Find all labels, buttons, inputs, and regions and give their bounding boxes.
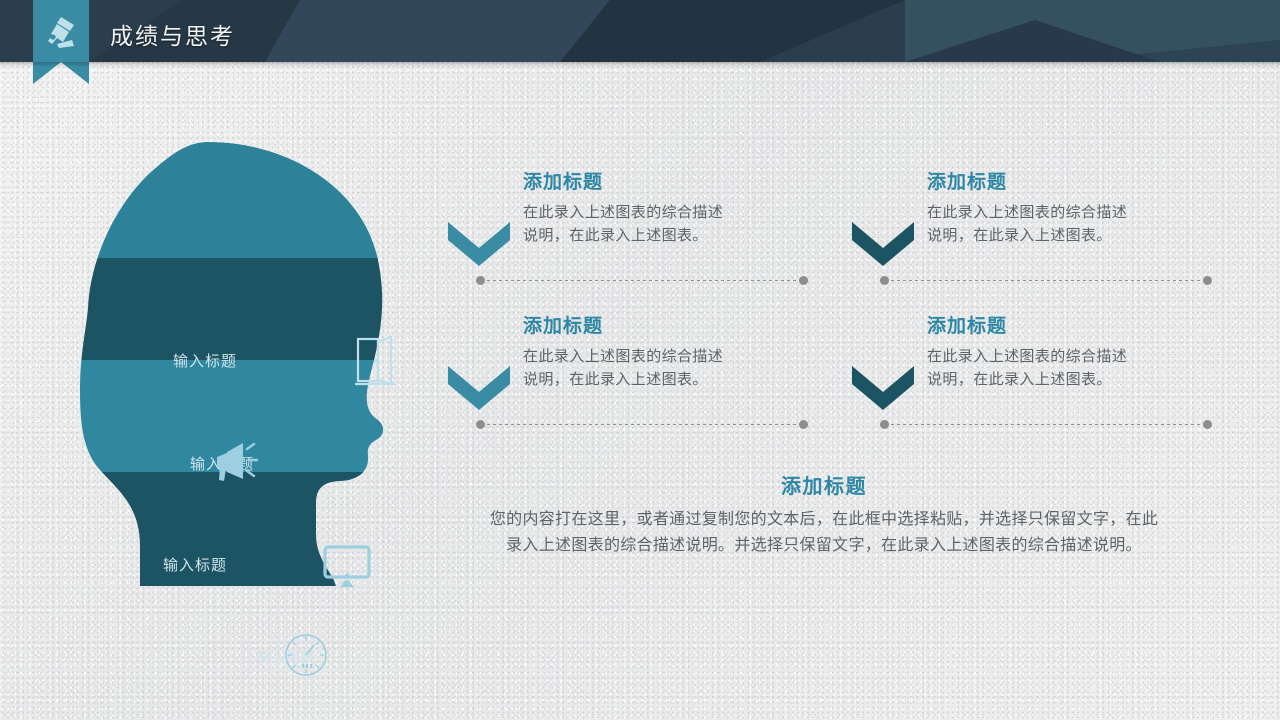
- clock-icon: [283, 632, 329, 678]
- summary-text: 您的内容打在这里，或者通过复制您的文本后，在此框中选择粘贴，并选择只保留文字，在…: [424, 507, 1224, 559]
- header-drop-shadow: [0, 62, 1280, 67]
- page-title: 成绩与思考: [110, 17, 235, 51]
- slide-root: 成绩与思考 输入标题 输入标题: [0, 0, 1280, 720]
- info-block-2-text: 在此录入上述图表的综合描述 说明，在此录入上述图表。: [927, 201, 1212, 248]
- divider-dot-right: [799, 420, 808, 429]
- info-block-3[interactable]: 添加标题 在此录入上述图表的综合描述 说明，在此录入上述图表。: [448, 316, 808, 391]
- divider-dashes: [481, 280, 803, 281]
- info-block-3-line2: 说明，在此录入上述图表。: [523, 368, 808, 391]
- info-block-4-text: 在此录入上述图表的综合描述 说明，在此录入上述图表。: [927, 345, 1212, 392]
- divider-dot-right: [1203, 420, 1212, 429]
- summary-block[interactable]: 添加标题 您的内容打在这里，或者通过复制您的文本后，在此框中选择粘贴，并选择只保…: [424, 470, 1224, 559]
- head-silhouette-infographic: 输入标题 输入标题 输入标题 输入标题: [78, 140, 448, 590]
- chevron-down-icon-4: [852, 364, 914, 410]
- divider-line-1: [476, 276, 808, 285]
- divider-line-2: [880, 276, 1212, 285]
- info-block-1-line2: 说明，在此录入上述图表。: [523, 224, 808, 247]
- divider-line-4: [880, 420, 1212, 429]
- pen-nib-icon: [41, 12, 81, 52]
- door-icon: [355, 336, 395, 388]
- head-band-1: [78, 140, 448, 258]
- info-block-4-line1: 在此录入上述图表的综合描述: [927, 345, 1212, 368]
- info-block-2-line1: 在此录入上述图表的综合描述: [927, 201, 1212, 224]
- info-block-1-body: 添加标题 在此录入上述图表的综合描述 说明，在此录入上述图表。: [523, 172, 808, 247]
- info-block-3-text: 在此录入上述图表的综合描述 说明，在此录入上述图表。: [523, 345, 808, 392]
- divider-dashes: [885, 424, 1207, 425]
- divider-line-3: [476, 420, 808, 429]
- info-block-1[interactable]: 添加标题 在此录入上述图表的综合描述 说明，在此录入上述图表。: [448, 172, 808, 247]
- chevron-down-icon-2: [852, 220, 914, 266]
- divider-dot-right: [1203, 276, 1212, 285]
- info-block-3-body: 添加标题 在此录入上述图表的综合描述 说明，在此录入上述图表。: [523, 316, 808, 391]
- divider-dashes: [481, 424, 803, 425]
- info-block-2-title: 添加标题: [927, 172, 1212, 195]
- info-block-1-line1: 在此录入上述图表的综合描述: [523, 201, 808, 224]
- divider-dot-right: [799, 276, 808, 285]
- monitor-icon: [323, 545, 371, 589]
- megaphone-icon: [213, 437, 261, 485]
- info-block-2-line2: 说明，在此录入上述图表。: [927, 224, 1212, 247]
- info-block-4-title: 添加标题: [927, 316, 1212, 339]
- head-band-1-label: 输入标题: [173, 350, 237, 371]
- chevron-down-icon-3: [448, 364, 510, 410]
- head-band-3-label: 输入标题: [163, 554, 227, 575]
- info-block-2[interactable]: 添加标题 在此录入上述图表的综合描述 说明，在此录入上述图表。: [852, 172, 1212, 247]
- info-block-4-body: 添加标题 在此录入上述图表的综合描述 说明，在此录入上述图表。: [927, 316, 1212, 391]
- header-bar: 成绩与思考: [0, 0, 1280, 62]
- info-block-1-title: 添加标题: [523, 172, 808, 195]
- info-block-3-title: 添加标题: [523, 316, 808, 339]
- summary-line1: 您的内容打在这里，或者通过复制您的文本后，在此框中选择粘贴，并选择只保留文字，在…: [424, 507, 1224, 533]
- info-block-3-line1: 在此录入上述图表的综合描述: [523, 345, 808, 368]
- info-block-2-body: 添加标题 在此录入上述图表的综合描述 说明，在此录入上述图表。: [927, 172, 1212, 247]
- chevron-down-icon-1: [448, 220, 510, 266]
- head-band-4: [78, 472, 448, 590]
- info-block-1-text: 在此录入上述图表的综合描述 说明，在此录入上述图表。: [523, 201, 808, 248]
- summary-line2: 录入上述图表的综合描述说明。并选择只保留文字，在此录入上述图表的综合描述说明。: [424, 533, 1224, 559]
- info-block-4[interactable]: 添加标题 在此录入上述图表的综合描述 说明，在此录入上述图表。: [852, 316, 1212, 391]
- divider-dashes: [885, 280, 1207, 281]
- summary-title: 添加标题: [424, 470, 1224, 499]
- info-block-4-line2: 说明，在此录入上述图表。: [927, 368, 1212, 391]
